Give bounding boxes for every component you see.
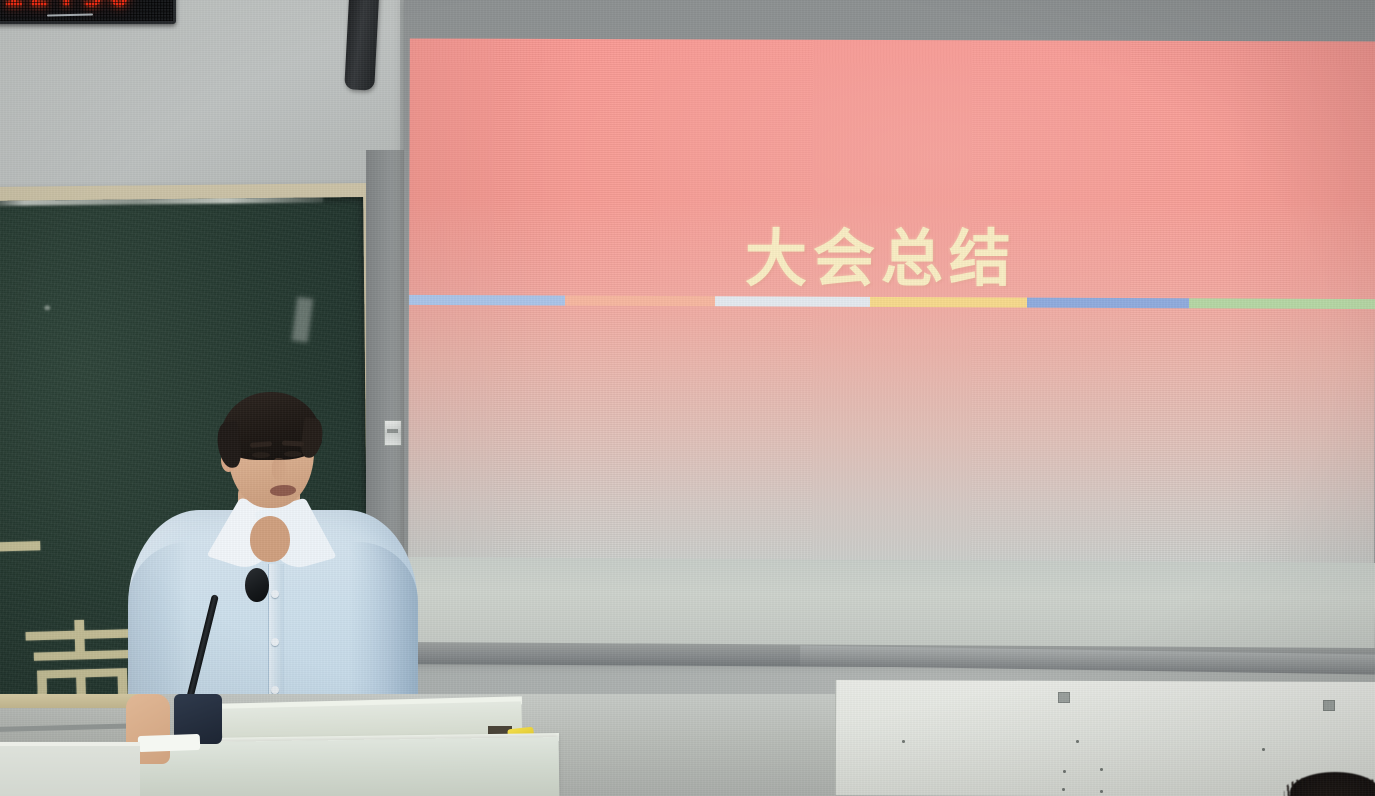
lecture-hall-scene: 一 声 大会总结 12:50 (0, 0, 1375, 796)
panel-dot (1100, 768, 1103, 771)
panel-dot (1063, 770, 1066, 773)
divider-segment-yellow (870, 297, 1027, 308)
panel-dot (1100, 790, 1103, 793)
shirt-button (271, 590, 279, 598)
panel-dot (1262, 748, 1265, 751)
speaker-nose (272, 458, 286, 480)
divider-segment-peach (565, 296, 715, 307)
left-wood-trim (0, 694, 140, 708)
led-clock: 12:50 (0, 0, 176, 24)
panel-clip (1323, 700, 1335, 711)
shirt-button (271, 686, 279, 694)
screen-lower-band (409, 557, 1375, 651)
whiteboard-panel (835, 680, 1375, 796)
panel-dot (1076, 740, 1079, 743)
white-box-object (138, 734, 201, 752)
slide-title: 大会总结 (745, 228, 1017, 290)
divider-segment-blue-right (1027, 298, 1189, 309)
shirt-collar-opening (250, 516, 290, 562)
divider-segment-blue-left (409, 295, 566, 306)
back-wall-upper-left (0, 0, 400, 200)
desk-mic-icon (245, 568, 269, 602)
chalk-stroke: 一 (0, 495, 46, 608)
speaker-hair-side-right (300, 417, 325, 459)
panel-dot (902, 740, 905, 743)
panel-clip (1058, 692, 1070, 703)
led-dot-matrix-overlay (0, 0, 173, 21)
speaker-hair-side-left (216, 421, 243, 469)
chalk-speck (44, 305, 50, 310)
shirt-button (271, 638, 279, 646)
panel-dot (1062, 788, 1065, 791)
speaker-eye-left (252, 452, 270, 458)
speaker-eye-right (284, 451, 302, 457)
speaker-eyebrow-right (282, 440, 304, 446)
left-desk (0, 746, 140, 796)
divider-segment-green (1189, 298, 1375, 309)
hanging-mic-icon (344, 0, 380, 91)
divider-segment-white (715, 296, 870, 307)
